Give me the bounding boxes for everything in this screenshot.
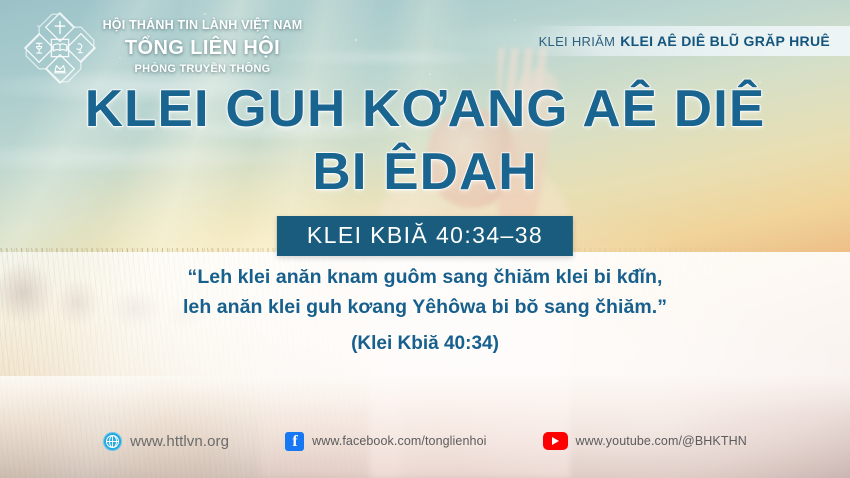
scripture-reference-banner: KLEI KBIĂ 40:34–38 [277,216,573,256]
slide-canvas: HỘI THÁNH TIN LÀNH VIỆT NAM TỔNG LIÊN HỘ… [0,0,850,478]
facebook-url: www.facebook.com/tonglienhoi [312,434,486,448]
facebook-icon [285,432,304,451]
series-name: KLEI AÊ DIÊ BLŨ GRĂP HRUÊ [620,33,830,49]
quote-line-2: leh anăn klei guh kơang Yêhôwa bi bŏ san… [0,292,850,322]
brand-line-denomination: HỘI THÁNH TIN LÀNH VIỆT NAM [100,18,305,34]
website-url: www.httlvn.org [130,433,229,450]
quote-citation: (Klei Kbiă 40:34) [0,329,850,358]
footer-facebook-link[interactable]: www.facebook.com/tonglienhoi [285,432,486,451]
slide-header: HỘI THÁNH TIN LÀNH VIỆT NAM TỔNG LIÊN HỘ… [0,0,850,92]
youtube-url: www.youtube.com/@BHKTHN [576,434,747,448]
footer-social-bar: www.httlvn.org www.facebook.com/tonglien… [0,428,850,454]
quote-line-1: “Leh klei anăn knam guôm sang čhiăm klei… [0,262,850,292]
brand-text-block: HỘI THÁNH TIN LÀNH VIỆT NAM TỔNG LIÊN HỘ… [100,18,305,76]
brand-line-department: PHÒNG TRUYỀN THÔNG [100,62,305,76]
series-label: KLEI HRIĂM [539,34,616,49]
scripture-quote: “Leh klei anăn knam guôm sang čhiăm klei… [0,262,850,359]
brand-line-general-assembly: TỔNG LIÊN HỘI [100,35,305,61]
youtube-icon [543,432,568,450]
footer-youtube-link[interactable]: www.youtube.com/@BHKTHN [543,432,747,450]
globe-icon [103,432,122,451]
title-line-2: BI ÊDAH [0,147,850,198]
church-logo [24,12,96,84]
footer-website-link[interactable]: www.httlvn.org [103,432,229,451]
page-title: KLEI GUH KƠANG AÊ DIÊ BI ÊDAH [0,84,850,198]
series-label-strip: KLEI HRIĂM KLEI AÊ DIÊ BLŨ GRĂP HRUÊ [530,26,850,56]
title-line-1: KLEI GUH KƠANG AÊ DIÊ [0,84,850,135]
